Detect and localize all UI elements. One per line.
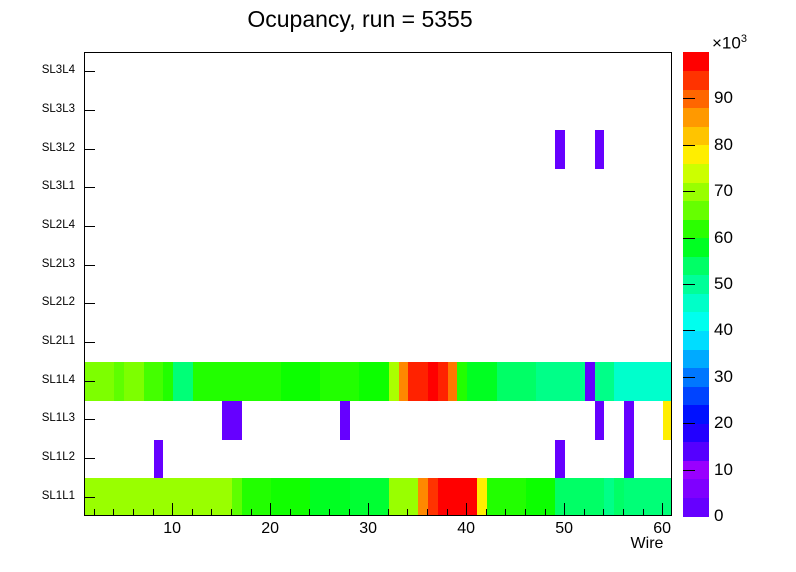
x-axis-tick-label: 50 (539, 520, 589, 538)
x-axis-minor-tick (290, 509, 291, 516)
heatmap-cell (595, 401, 605, 440)
x-axis-minor-tick (505, 509, 506, 516)
heatmap-cell (448, 362, 458, 401)
y-axis-tick-label: SL2L1 (15, 335, 75, 347)
color-bar-tick (683, 238, 695, 239)
color-bar-segment (683, 52, 709, 71)
x-axis-tick-label: 40 (441, 520, 491, 538)
x-axis-minor-tick (584, 509, 585, 516)
heatmap-cell (467, 362, 496, 401)
x-axis-major-tick (466, 503, 467, 516)
color-bar-tick (683, 191, 695, 192)
x-axis-major-tick (662, 503, 663, 516)
color-bar-segment (683, 108, 709, 127)
heatmap-cell (555, 130, 565, 169)
color-bar-tick-label: 60 (714, 229, 733, 246)
x-axis-minor-tick (486, 509, 487, 516)
color-bar-segment (683, 330, 709, 349)
x-axis-minor-tick (447, 509, 448, 516)
y-axis-tick-label: SL2L2 (15, 296, 75, 308)
heatmap-cell (173, 362, 193, 401)
heatmap-cell (389, 478, 418, 515)
color-bar-segment (683, 405, 709, 424)
x-axis-minor-tick (309, 509, 310, 516)
y-axis-tick (84, 110, 95, 111)
heatmap-cell (624, 478, 671, 515)
color-bar-segment (683, 219, 709, 238)
heatmap-cell (114, 362, 124, 401)
color-bar-tick-label: 50 (714, 275, 733, 292)
color-bar-tick (683, 423, 695, 424)
color-bar-tick-label: 30 (714, 368, 733, 385)
heatmap-cell (281, 362, 320, 401)
heatmap-cell (85, 478, 232, 515)
x-axis-minor-tick (388, 509, 389, 516)
color-bar-tick-label: 90 (714, 89, 733, 106)
color-bar-exponent-value: 3 (741, 33, 747, 45)
heatmap-cell (604, 478, 614, 515)
x-axis-minor-tick (525, 509, 526, 516)
color-bar-segment (683, 126, 709, 145)
y-axis-tick (84, 497, 95, 498)
x-axis-major-tick (172, 503, 173, 516)
x-axis-major-tick (270, 503, 271, 516)
y-axis-tick-label: SL1L1 (15, 490, 75, 502)
x-axis-minor-tick (623, 509, 624, 516)
occupancy-plot-canvas: Ocupancy, run = 5355 SL3L4SL3L3SL3L2SL3L… (0, 0, 796, 572)
color-bar-segment (683, 200, 709, 219)
x-axis-major-tick (564, 503, 565, 516)
y-axis-tick (84, 342, 95, 343)
heatmap-cell (399, 362, 409, 401)
color-bar-segment (683, 349, 709, 368)
y-axis-tick-label: SL1L3 (15, 412, 75, 424)
heatmap-cell (428, 362, 438, 401)
y-axis-tick-label: SL1L4 (15, 374, 75, 386)
heatmap-cell (457, 362, 467, 401)
color-bar-segment (683, 256, 709, 275)
color-bar-tick-label: 70 (714, 182, 733, 199)
heatmap-cell (624, 440, 634, 479)
heatmap-cell (340, 401, 350, 440)
y-axis-tick-label: SL2L3 (15, 258, 75, 270)
y-axis-tick-label: SL3L4 (15, 64, 75, 76)
y-axis-tick (84, 149, 95, 150)
y-axis-tick-label: SL3L2 (15, 142, 75, 154)
heatmap-cell (359, 362, 388, 401)
color-bar-segment (683, 238, 709, 257)
color-bar-tick-label: 40 (714, 321, 733, 338)
heatmap-cell (408, 362, 428, 401)
color-bar-tick (683, 98, 695, 99)
heatmap-cell (487, 478, 526, 515)
x-axis-minor-tick (251, 509, 252, 516)
x-axis-minor-tick (133, 509, 134, 516)
y-axis-tick-label: SL3L3 (15, 103, 75, 115)
x-axis-minor-tick (407, 509, 408, 516)
x-axis-minor-tick (603, 509, 604, 516)
color-bar-exponent: ×103 (712, 33, 747, 54)
color-bar-tick (683, 377, 695, 378)
heatmap-cell (389, 362, 399, 401)
heatmap-cell (163, 362, 173, 401)
y-axis-tick (84, 419, 95, 420)
y-axis-tick (84, 226, 95, 227)
heatmap-cell (555, 478, 604, 515)
color-bar-segment (683, 71, 709, 90)
color-bar-tick-label: 10 (714, 461, 733, 478)
x-axis-minor-tick (545, 509, 546, 516)
heatmap-cell (624, 401, 634, 440)
color-bar-segment (683, 386, 709, 405)
x-axis-tick-label: 30 (343, 520, 393, 538)
heatmap-cell (320, 362, 359, 401)
y-axis-tick (84, 303, 95, 304)
x-axis-minor-tick (643, 509, 644, 516)
x-axis-minor-tick (113, 509, 114, 516)
x-axis-minor-tick (329, 509, 330, 516)
color-bar-segment (683, 497, 709, 516)
x-axis-minor-tick (192, 509, 193, 516)
heatmap-cell (438, 362, 448, 401)
color-bar-segment (683, 442, 709, 461)
y-axis-tick (84, 458, 95, 459)
heatmap-area (85, 53, 671, 515)
heatmap-cell (242, 478, 271, 515)
color-bar-segment (683, 293, 709, 312)
color-bar-segment (683, 479, 709, 498)
heatmap-cell (585, 362, 595, 401)
y-axis-tick (84, 381, 95, 382)
heatmap-cell (526, 478, 555, 515)
x-axis-minor-tick (349, 509, 350, 516)
heatmap-cell (154, 440, 164, 479)
color-bar-segment (683, 312, 709, 331)
plot-frame (84, 52, 672, 516)
x-axis-tick-label: 10 (147, 520, 197, 538)
heatmap-cell (595, 362, 615, 401)
x-axis-minor-tick (211, 509, 212, 516)
heatmap-cell (555, 440, 565, 479)
y-axis-tick-label: SL3L1 (15, 180, 75, 192)
color-bar-multiplier: ×10 (712, 34, 741, 53)
y-axis-tick (84, 71, 95, 72)
heatmap-cell (144, 362, 164, 401)
color-bar-tick-label: 20 (714, 414, 733, 431)
color-bar-tick (683, 145, 695, 146)
heatmap-cell (232, 478, 242, 515)
color-bar-segment (683, 423, 709, 442)
color-bar-segment (683, 163, 709, 182)
heatmap-cell (193, 362, 281, 401)
color-bar-tick-label: 80 (714, 136, 733, 153)
x-axis-minor-tick (94, 509, 95, 516)
x-axis-minor-tick (427, 509, 428, 516)
x-axis-title: Wire (612, 535, 682, 553)
color-bar-tick-label: 0 (714, 507, 723, 524)
x-axis-major-tick (368, 503, 369, 516)
heatmap-cell (663, 401, 671, 440)
heatmap-cell (438, 478, 477, 515)
y-axis-tick-label: SL2L4 (15, 219, 75, 231)
chart-title: Ocupancy, run = 5355 (0, 6, 720, 33)
color-bar-segment (683, 145, 709, 164)
heatmap-cell (614, 362, 671, 401)
heatmap-cell (124, 362, 144, 401)
heatmap-cell (595, 130, 605, 169)
x-axis-minor-tick (153, 509, 154, 516)
x-axis-tick-label: 20 (245, 520, 295, 538)
color-bar-tick (683, 284, 695, 285)
heatmap-cell (428, 478, 438, 515)
y-axis-tick (84, 187, 95, 188)
y-axis-tick-label: SL1L2 (15, 451, 75, 463)
y-axis-tick (84, 265, 95, 266)
heatmap-cell (497, 362, 536, 401)
color-bar-tick (683, 330, 695, 331)
heatmap-cell (222, 401, 242, 440)
x-axis-minor-tick (231, 509, 232, 516)
heatmap-cell (350, 478, 389, 515)
color-bar-tick (683, 470, 695, 471)
heatmap-cell (536, 362, 585, 401)
